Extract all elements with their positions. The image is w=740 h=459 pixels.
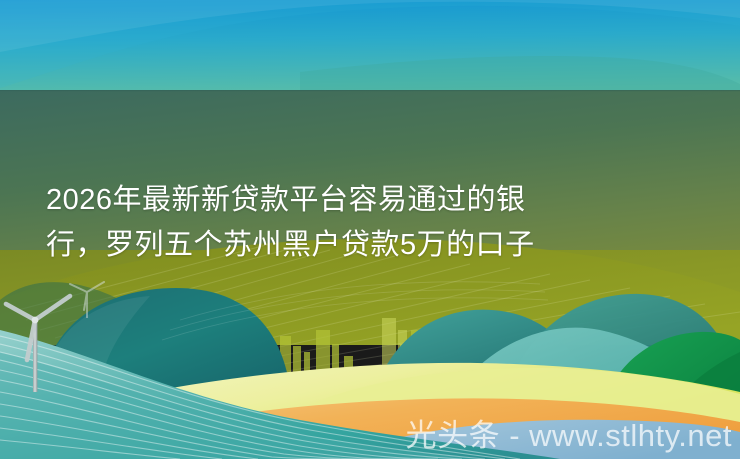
scene-artwork — [0, 0, 740, 459]
scene-svg — [0, 0, 740, 459]
sky-gradient — [0, 0, 740, 95]
overlay-edge-line — [0, 90, 740, 91]
turbine-hub — [32, 317, 39, 324]
banner-image: 2026年最新新贷款平台容易通过的银 行，罗列五个苏州黑户贷款5万的口子 光头条… — [0, 0, 740, 459]
